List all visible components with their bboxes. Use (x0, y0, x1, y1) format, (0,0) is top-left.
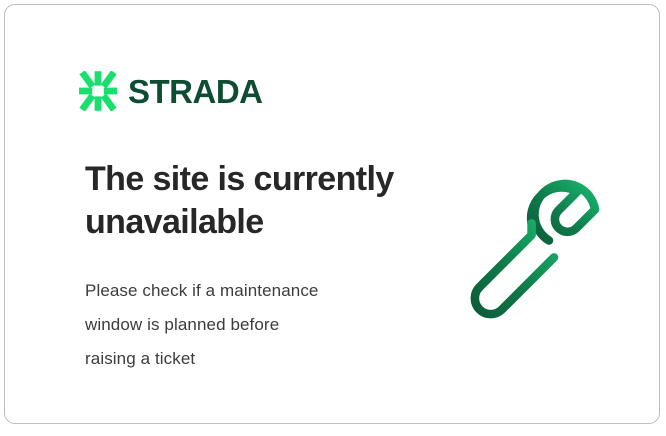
maintenance-page: STRADA The site is currently unavailable… (0, 0, 666, 436)
page-title: The site is currently unavailable (85, 158, 415, 244)
description-line: Please check if a maintenance (85, 274, 405, 308)
description-line: window is planned before (85, 308, 405, 342)
wrench-icon (457, 157, 619, 319)
status-card: STRADA The site is currently unavailable… (4, 4, 660, 424)
description-line: raising a ticket (85, 342, 405, 376)
page-description: Please check if a maintenance window is … (85, 274, 405, 376)
brand-logo: STRADA (79, 71, 263, 111)
brand-wordmark: STRADA (128, 75, 263, 108)
strada-asterisk-icon (79, 71, 117, 111)
